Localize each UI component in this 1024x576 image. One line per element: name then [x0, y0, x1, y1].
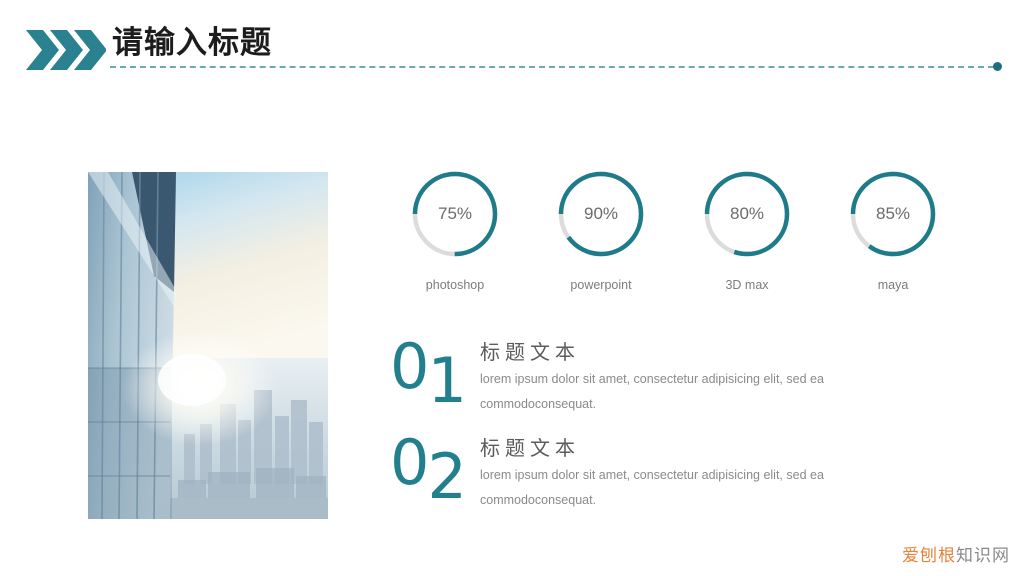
watermark-brand: 爱刨根 — [902, 546, 956, 565]
donut-label-photoshop: photoshop — [380, 278, 530, 292]
watermark-suffix: 知识网 — [956, 546, 1010, 565]
watermark: 爱刨根知识网 — [902, 544, 1010, 568]
block-desc-02: lorem ipsum dolor sit amet, consectetur … — [480, 463, 880, 513]
numbered-text-blocks: 01 标题文本 lorem ipsum dolor sit amet, cons… — [380, 338, 1000, 538]
donut-value-3dmax: 80% — [701, 168, 793, 260]
skill-item-maya: 85% maya — [818, 168, 968, 292]
donut-chart-photoshop: 75% — [409, 168, 501, 260]
skill-item-3dmax: 80% 3D max — [672, 168, 822, 292]
donut-value-maya: 85% — [847, 168, 939, 260]
donut-label-maya: maya — [818, 278, 968, 292]
donut-label-powerpoint: powerpoint — [526, 278, 676, 292]
block-title-01: 标题文本 — [480, 340, 990, 366]
dot-icon — [993, 62, 1002, 71]
block-desc-01: lorem ipsum dolor sit amet, consectetur … — [480, 367, 880, 417]
block-number-01: 01 — [390, 336, 465, 398]
skill-item-photoshop: 75% photoshop — [380, 168, 530, 292]
header-dashed-divider — [110, 66, 994, 68]
block-number-02: 02 — [390, 432, 465, 494]
donut-chart-3dmax: 80% — [701, 168, 793, 260]
chevron-right-triple-icon — [26, 29, 106, 71]
page-title: 请输入标题 — [112, 22, 272, 64]
skill-item-powerpoint: 90% powerpoint — [526, 168, 676, 292]
text-block-01: 01 标题文本 lorem ipsum dolor sit amet, cons… — [380, 338, 1000, 434]
text-block-02: 02 标题文本 lorem ipsum dolor sit amet, cons… — [380, 434, 1000, 530]
donut-chart-maya: 85% — [847, 168, 939, 260]
block-title-02: 标题文本 — [480, 436, 990, 462]
donut-chart-powerpoint: 90% — [555, 168, 647, 260]
donut-value-photoshop: 75% — [409, 168, 501, 260]
skill-donut-row: 75% photoshop 90% powerpoint 80% 3D max — [380, 168, 1000, 303]
donut-label-3dmax: 3D max — [672, 278, 822, 292]
donut-value-powerpoint: 90% — [555, 168, 647, 260]
building-photo — [88, 172, 328, 519]
slide-header: 请输入标题 — [0, 0, 1024, 90]
